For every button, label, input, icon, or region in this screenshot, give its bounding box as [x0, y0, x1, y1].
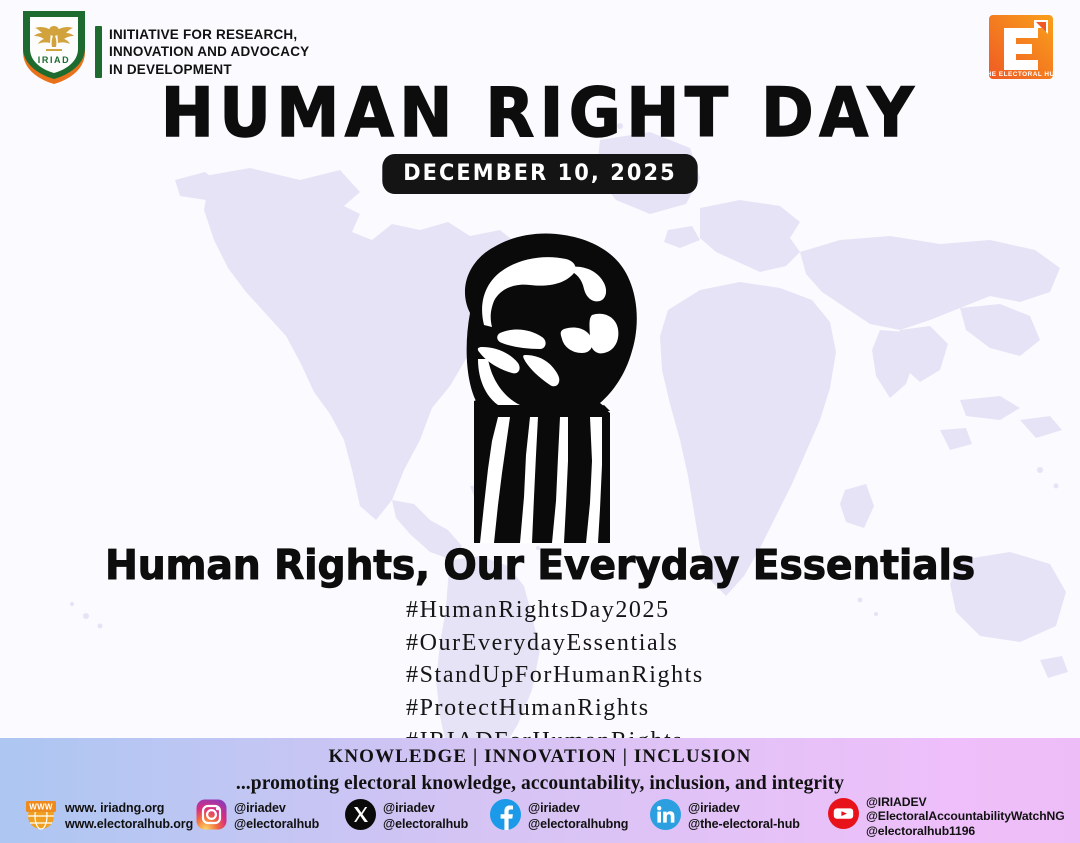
poster-slogan: Human Rights, Our Everyday Essentials	[22, 541, 1059, 589]
youtube-line-1: @IRIADEV	[866, 795, 1065, 810]
svg-text:IRIAD: IRIAD	[38, 55, 71, 65]
social-links-row: WWW www. iriadng.org www.electoralhub.or…	[0, 790, 1080, 843]
facebook-line-1: @iriadev	[528, 801, 628, 816]
linkedin-icon	[650, 799, 681, 835]
linkedin-line-2: @the-electoral-hub	[688, 817, 800, 832]
youtube-line-2: @ElectoralAccountabilityWatchNG	[866, 809, 1065, 824]
date-badge-wrap: DECEMBER 10, 2025	[0, 154, 1080, 194]
date-badge: DECEMBER 10, 2025	[382, 154, 697, 194]
poster-footer: KNOWLEDGE | INNOVATION | INCLUSION ...pr…	[0, 738, 1080, 843]
x-line-2: @electoralhub	[383, 817, 468, 832]
electoral-hub-logo: THE ELECTORAL HUB	[986, 12, 1056, 82]
www-globe-icon: WWW	[24, 797, 58, 836]
social-item-youtube[interactable]: @IRIADEV @ElectoralAccountabilityWatchNG…	[828, 795, 1065, 839]
youtube-icon	[828, 798, 859, 834]
hashtag-item: #HumanRightsDay2025	[406, 594, 704, 627]
hashtag-item: #ProtectHumanRights	[406, 692, 704, 725]
hashtag-item: #StandUpForHumanRights	[406, 659, 704, 692]
values-line: KNOWLEDGE | INNOVATION | INCLUSION	[0, 744, 1080, 770]
hashtag-item: #OurEverydayEssentials	[406, 627, 704, 660]
website-line-2: www.electoralhub.org	[65, 817, 193, 832]
org-name-line-2: INNOVATION AND ADVOCACY	[109, 43, 309, 60]
raised-fist-icon	[414, 205, 666, 545]
linkedin-line-1: @iriadev	[688, 801, 800, 816]
org-name-line-1: INITIATIVE FOR RESEARCH,	[109, 26, 309, 43]
social-item-website[interactable]: WWW www. iriadng.org www.electoralhub.or…	[24, 797, 193, 836]
page-title: HUMAN RIGHT DAY	[38, 80, 1042, 148]
social-item-facebook[interactable]: @iriadev @electoralhubng	[490, 799, 628, 835]
facebook-line-2: @electoralhubng	[528, 817, 628, 832]
iriad-org-name: INITIATIVE FOR RESEARCH, INNOVATION AND …	[95, 26, 309, 78]
social-item-instagram[interactable]: @iriadev @electoralhub	[196, 799, 319, 835]
x-twitter-icon	[345, 799, 376, 835]
social-item-linkedin[interactable]: @iriadev @the-electoral-hub	[650, 799, 800, 835]
human-rights-day-poster: IRIAD INITIATIVE FOR RESEARCH, INNOVATIO…	[0, 0, 1080, 843]
youtube-line-3: @electoralhub1196	[866, 824, 1065, 839]
green-accent-bar	[95, 26, 102, 78]
instagram-line-2: @electoralhub	[234, 817, 319, 832]
instagram-line-1: @iriadev	[234, 801, 319, 816]
x-line-1: @iriadev	[383, 801, 468, 816]
instagram-icon	[196, 799, 227, 835]
svg-text:WWW: WWW	[29, 803, 53, 812]
footer-tagline-block: KNOWLEDGE | INNOVATION | INCLUSION ...pr…	[0, 744, 1080, 797]
website-line-1: www. iriadng.org	[65, 801, 193, 816]
facebook-icon	[490, 799, 521, 835]
hashtag-list: #HumanRightsDay2025 #OurEverydayEssentia…	[406, 594, 704, 757]
iriad-shield-logo: IRIAD	[18, 8, 90, 86]
social-item-x-twitter[interactable]: @iriadev @electoralhub	[345, 799, 468, 835]
hub-logo-label: THE ELECTORAL HUB	[986, 71, 1056, 78]
